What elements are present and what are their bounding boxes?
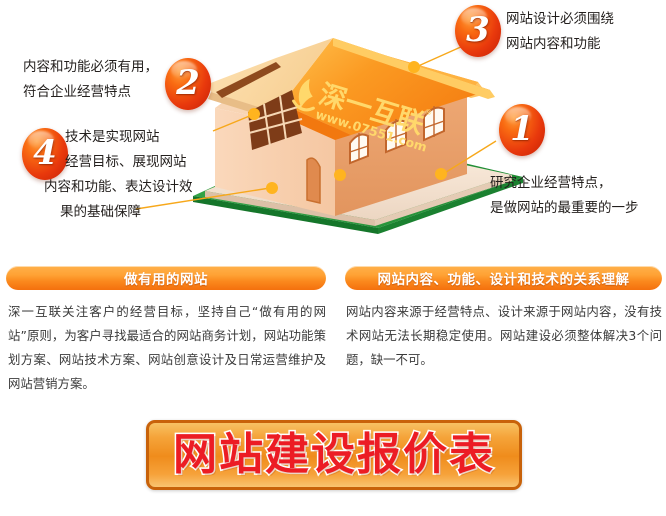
badge-2: 2 — [165, 58, 211, 110]
section-header-right: 网站内容、功能、设计和技术的关系理解 — [345, 266, 662, 290]
callout-4-line-3: 内容和功能、表达设计效 — [32, 174, 193, 199]
callout-1: 研究企业经营特点， 是做网站的最重要的一步 — [490, 170, 639, 220]
badge-1: 1 — [499, 104, 545, 156]
infographic-page: 深一互联 www.07551.com ® — [0, 0, 666, 516]
callout-3-line-2: 网站内容和功能 — [506, 31, 614, 56]
callout-1-line-1: 研究企业经营特点， — [490, 170, 639, 195]
callout-3-line-1: 网站设计必须围绕 — [506, 6, 614, 31]
section-left-body: 深一互联关注客户的经营目标，坚持自己“做有用的网站”原则，为客户寻找最适合的网站… — [8, 300, 326, 396]
callout-2-line-2: 符合企业经营特点 — [23, 79, 158, 104]
callout-4: 技术是实现网站 经营目标、展现网站 内容和功能、表达设计效 果的基础保障 — [32, 124, 193, 224]
price-list-banner-label: 网站建设报价表 — [173, 433, 495, 477]
callout-2: 内容和功能必须有用， 符合企业经营特点 — [23, 54, 158, 104]
section-right-title: 网站内容、功能、设计和技术的关系理解 — [378, 268, 630, 288]
badge-3-number: 3 — [466, 13, 490, 47]
callout-4-line-2: 经营目标、展现网站 — [32, 149, 193, 174]
badge-1-number: 1 — [510, 112, 534, 146]
callout-1-line-2: 是做网站的最重要的一步 — [490, 195, 639, 220]
callout-4-line-4: 果的基础保障 — [32, 199, 193, 224]
section-left-title: 做有用的网站 — [124, 268, 208, 288]
price-list-banner-button[interactable]: 网站建设报价表 — [146, 420, 522, 490]
callout-4-line-1: 技术是实现网站 — [32, 124, 193, 149]
house-illustration: 深一互联 www.07551.com ® — [0, 0, 666, 252]
section-header-left: 做有用的网站 — [6, 266, 326, 290]
section-right-body: 网站内容来源于经营特点、设计来源于网站内容，没有技术网站无法长期稳定使用。网站建… — [346, 300, 662, 372]
side-door — [307, 158, 320, 203]
badge-2-number: 2 — [176, 66, 200, 100]
badge-3: 3 — [455, 5, 501, 57]
callout-3: 网站设计必须围绕 网站内容和功能 — [506, 6, 614, 56]
callout-2-line-1: 内容和功能必须有用， — [23, 54, 158, 79]
